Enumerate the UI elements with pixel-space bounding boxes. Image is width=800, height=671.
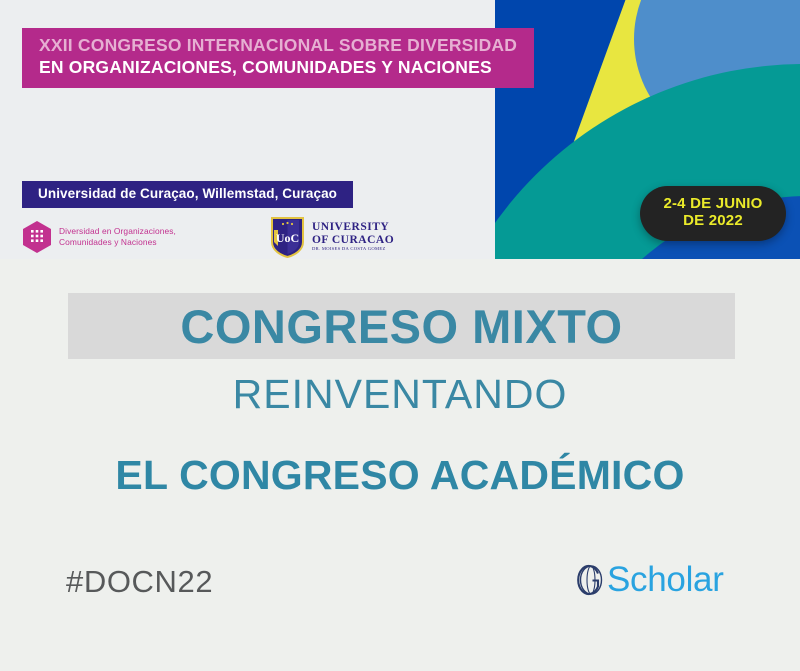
subtitle-line-2: EL CONGRESO ACADÉMICO xyxy=(0,452,800,499)
congress-title-banner: XXII CONGRESO INTERNACIONAL SOBRE DIVERS… xyxy=(22,28,534,88)
hexagon-grid-icon xyxy=(22,221,52,253)
uoc-logo: UoC UNIVERSITY OF CURACAO DR. MOISES DA … xyxy=(270,216,394,258)
title-band: CONGRESO MIXTO xyxy=(68,293,735,359)
docn-logo-text: Diversidad en Organizaciones, Comunidade… xyxy=(59,226,176,248)
docn-logo: Diversidad en Organizaciones, Comunidade… xyxy=(22,221,176,253)
scholar-wordmark: Scholar xyxy=(607,562,724,597)
scholar-globe-icon xyxy=(576,564,606,596)
subtitle-line-1: REINVENTANDO xyxy=(0,371,800,418)
date-badge-line2: DE 2022 xyxy=(650,212,776,229)
body-area: CONGRESO MIXTO REINVENTANDO EL CONGRESO … xyxy=(0,259,800,671)
hashtag-text: #DOCN22 xyxy=(66,564,213,600)
date-badge: 2-4 DE JUNIO DE 2022 xyxy=(640,186,786,241)
conference-poster: XXII CONGRESO INTERNACIONAL SOBRE DIVERS… xyxy=(0,0,800,671)
docn-logo-line2: Comunidades y Naciones xyxy=(59,237,176,248)
page-title: CONGRESO MIXTO xyxy=(68,293,735,359)
shield-icon: UoC xyxy=(270,216,305,258)
scholar-logo: Scholar xyxy=(576,562,724,597)
uoc-logo-line2: OF CURACAO xyxy=(312,234,394,247)
uoc-logo-text: UNIVERSITY OF CURACAO DR. MOISES DA COST… xyxy=(312,221,394,254)
uoc-logo-line1: UNIVERSITY xyxy=(312,221,394,234)
svg-text:UoC: UoC xyxy=(276,231,299,245)
congress-banner-line1: XXII CONGRESO INTERNACIONAL SOBRE DIVERS… xyxy=(39,35,517,57)
date-badge-line1: 2-4 DE JUNIO xyxy=(650,195,776,212)
uoc-logo-line3: DR. MOISES DA COSTA GOMEZ xyxy=(312,246,394,253)
docn-logo-line1: Diversidad en Organizaciones, xyxy=(59,226,176,237)
venue-text: Universidad de Curaçao, Willemstad, Cura… xyxy=(38,186,337,201)
logos-row: Diversidad en Organizaciones, Comunidade… xyxy=(22,216,394,258)
venue-bar: Universidad de Curaçao, Willemstad, Cura… xyxy=(22,181,353,208)
congress-banner-line2: EN ORGANIZACIONES, COMUNIDADES Y NACIONE… xyxy=(39,57,517,79)
